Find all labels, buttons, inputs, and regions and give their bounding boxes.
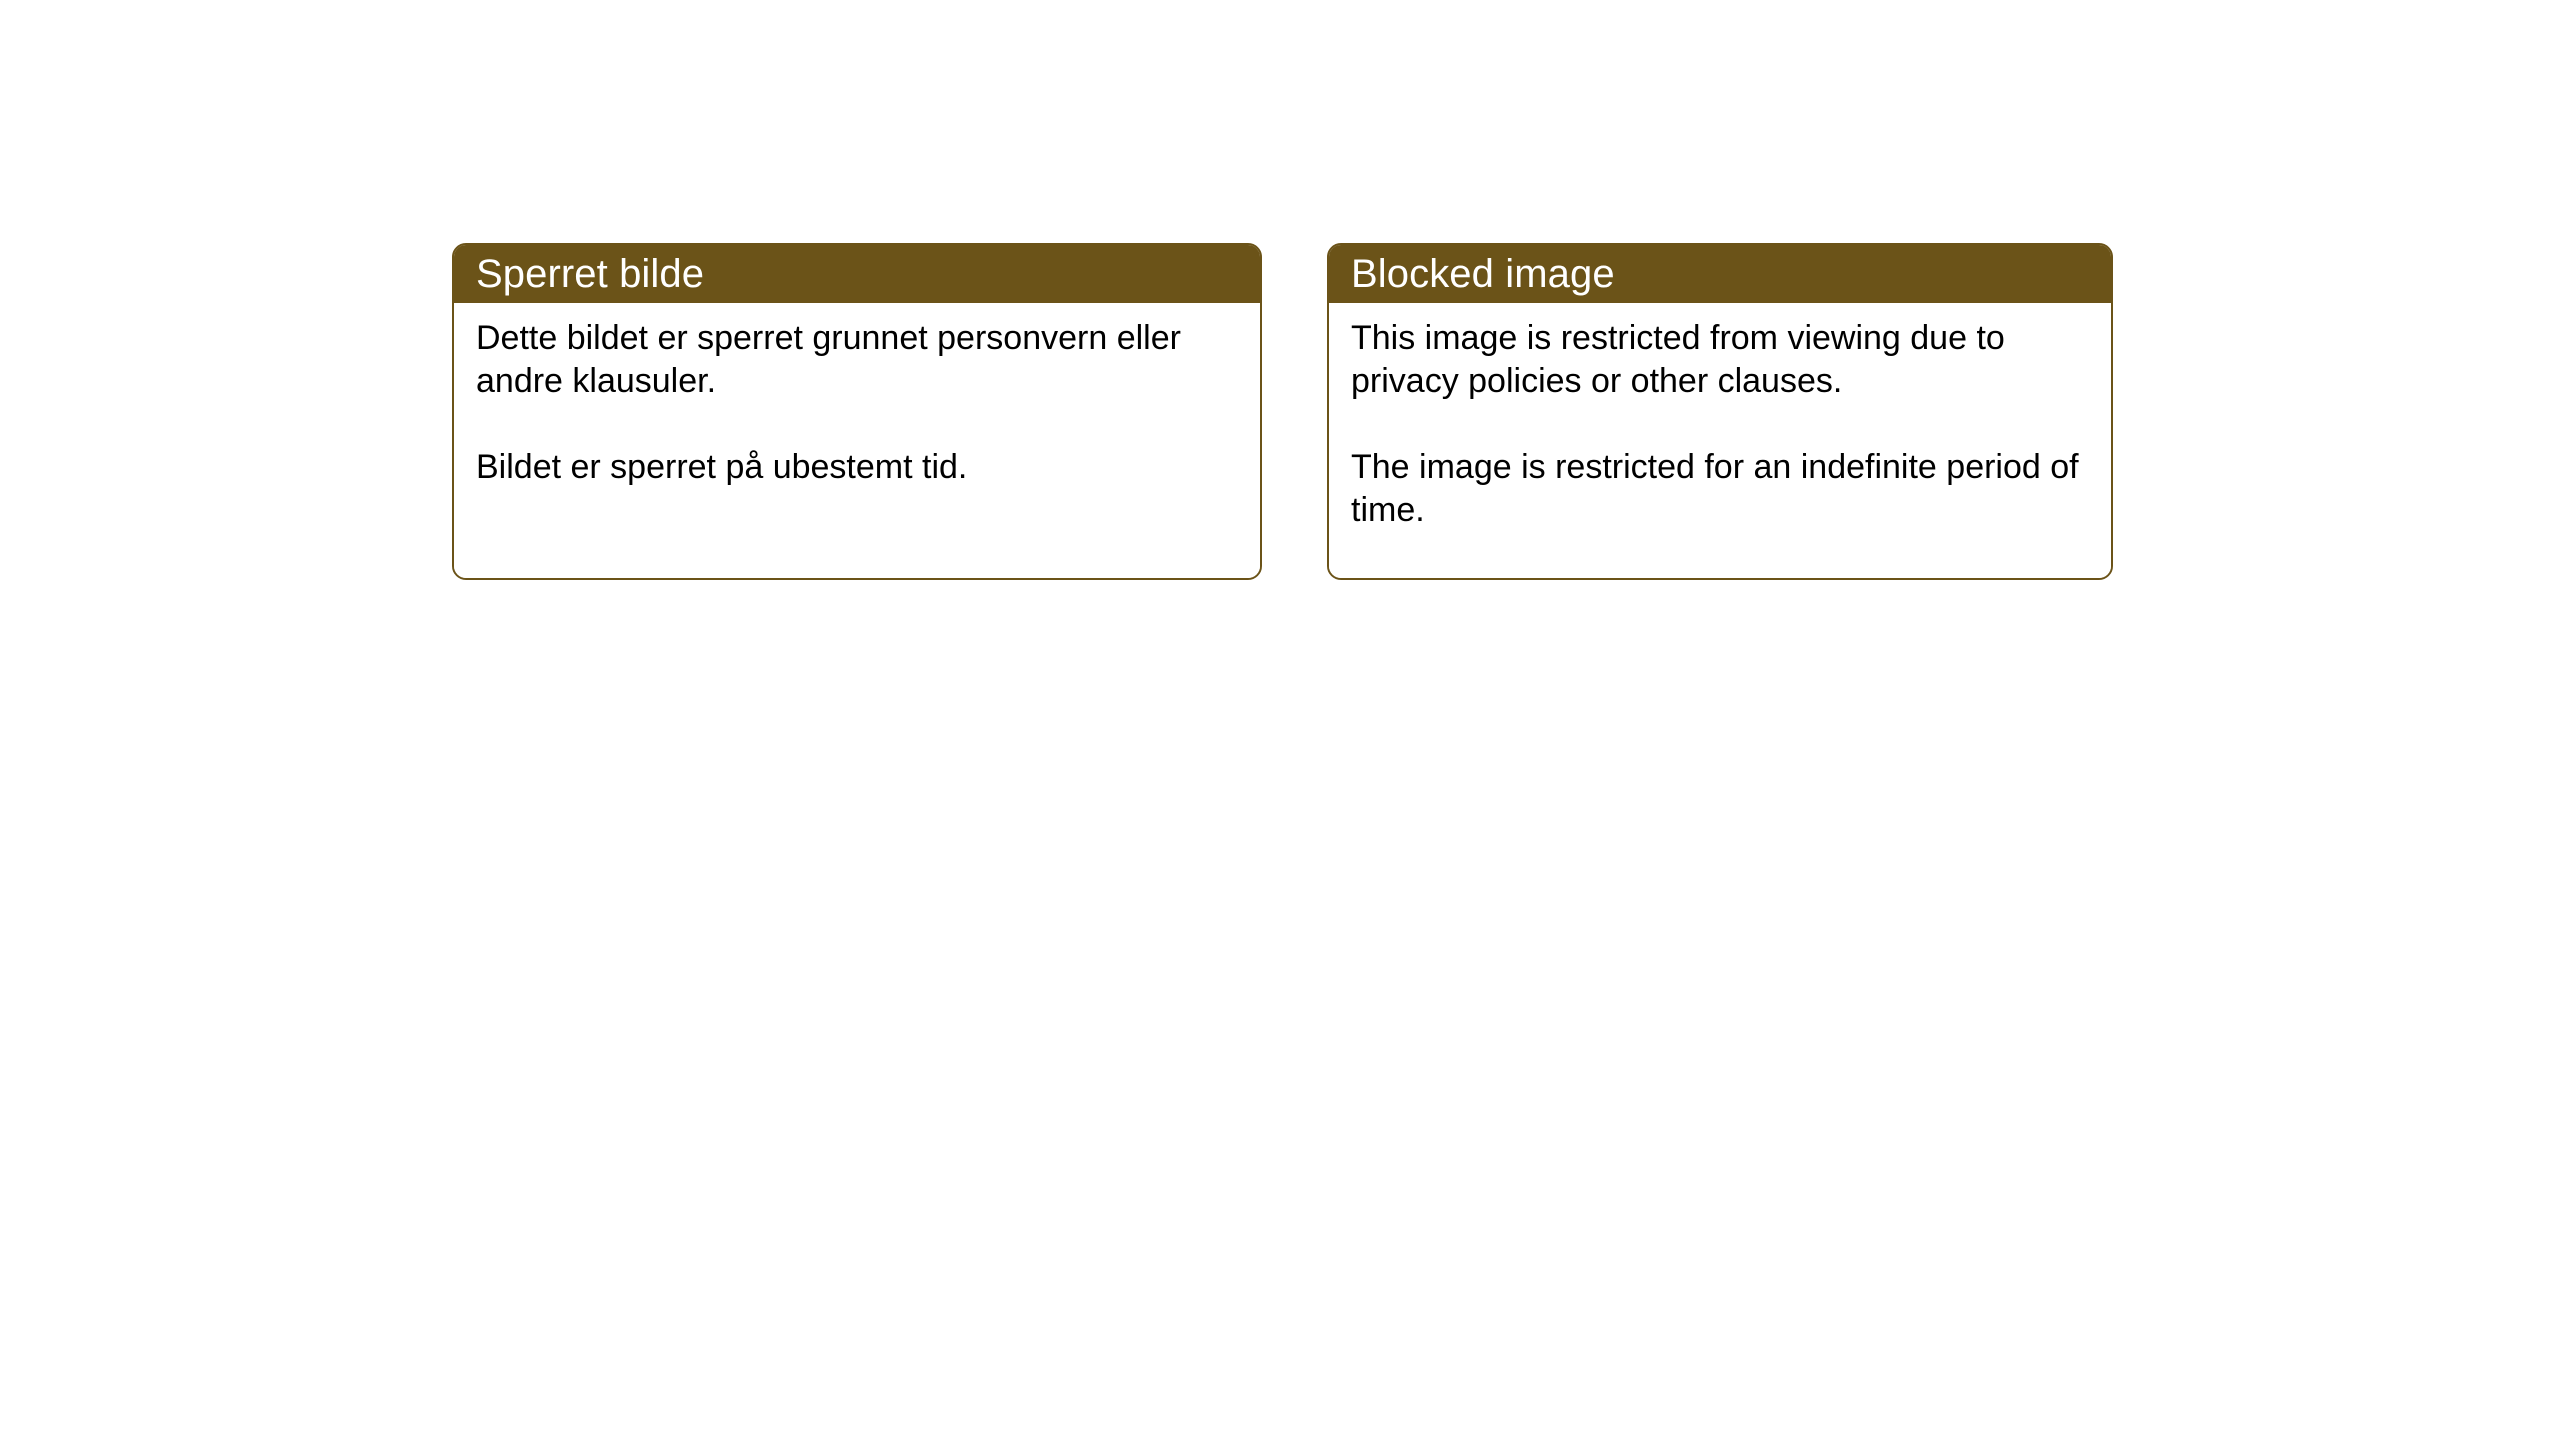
card-paragraph-duration-norwegian: Bildet er sperret på ubestemt tid. bbox=[476, 446, 1238, 489]
card-title-norwegian: Sperret bilde bbox=[476, 252, 704, 296]
notice-card-row: Sperret bilde Dette bildet er sperret gr… bbox=[452, 243, 2113, 580]
card-title-english: Blocked image bbox=[1351, 252, 1615, 296]
card-paragraph-privacy-english: This image is restricted from viewing du… bbox=[1351, 317, 2089, 403]
blocked-image-card-english: Blocked image This image is restricted f… bbox=[1327, 243, 2113, 580]
card-header-norwegian: Sperret bilde bbox=[454, 245, 1260, 303]
blocked-image-card-norwegian: Sperret bilde Dette bildet er sperret gr… bbox=[452, 243, 1262, 580]
card-paragraph-duration-english: The image is restricted for an indefinit… bbox=[1351, 446, 2089, 532]
card-paragraph-privacy-norwegian: Dette bildet er sperret grunnet personve… bbox=[476, 317, 1238, 403]
card-body-english: This image is restricted from viewing du… bbox=[1329, 303, 2111, 578]
card-body-norwegian: Dette bildet er sperret grunnet personve… bbox=[454, 303, 1260, 578]
page-root: Sperret bilde Dette bildet er sperret gr… bbox=[0, 0, 2560, 1440]
card-header-english: Blocked image bbox=[1329, 245, 2111, 303]
